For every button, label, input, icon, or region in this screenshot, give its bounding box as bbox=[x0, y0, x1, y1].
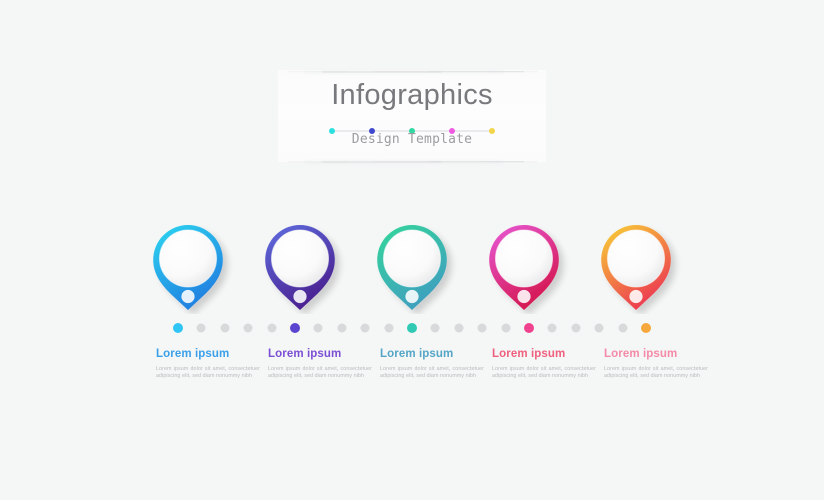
step-heading-2: Lorem ipsum bbox=[268, 348, 372, 361]
map-pin-icon bbox=[371, 222, 467, 314]
progress-dot[interactable] bbox=[220, 324, 229, 333]
progress-dot[interactable] bbox=[431, 324, 440, 333]
progress-dot[interactable] bbox=[501, 324, 510, 333]
progress-dot[interactable] bbox=[267, 324, 276, 333]
infographic-canvas: Infographics Design Template Lorem ipsum… bbox=[0, 0, 824, 500]
pin-marker-5[interactable] bbox=[595, 222, 691, 314]
step-text-block-2: Lorem ipsumLorem ipsum dolor sit amet, c… bbox=[268, 348, 372, 381]
step-text-block-3: Lorem ipsumLorem ipsum dolor sit amet, c… bbox=[380, 348, 484, 381]
progress-dot-accent-1[interactable] bbox=[173, 323, 183, 333]
progress-dot[interactable] bbox=[384, 324, 393, 333]
step-body-5: Lorem ipsum dolor sit amet, consectetuer… bbox=[604, 366, 708, 381]
progress-dot[interactable] bbox=[337, 324, 346, 333]
page-subtitle: Design Template bbox=[278, 132, 546, 148]
progress-dot[interactable] bbox=[478, 324, 487, 333]
step-text-block-5: Lorem ipsumLorem ipsum dolor sit amet, c… bbox=[604, 348, 708, 381]
map-pin-icon bbox=[595, 222, 691, 314]
brush-stroke-bottom-icon bbox=[278, 157, 546, 166]
progress-dot-accent-2[interactable] bbox=[290, 323, 300, 333]
step-heading-1: Lorem ipsum bbox=[156, 348, 260, 361]
progress-dot[interactable] bbox=[595, 324, 604, 333]
step-text-block-1: Lorem ipsumLorem ipsum dolor sit amet, c… bbox=[156, 348, 260, 381]
progress-dot-strip bbox=[178, 322, 646, 334]
progress-dot[interactable] bbox=[361, 324, 370, 333]
progress-dot[interactable] bbox=[454, 324, 463, 333]
progress-dot[interactable] bbox=[618, 324, 627, 333]
page-title: Infographics bbox=[278, 78, 546, 112]
step-body-2: Lorem ipsum dolor sit amet, consectetuer… bbox=[268, 366, 372, 381]
brush-stroke-top-icon bbox=[278, 67, 546, 76]
progress-dot[interactable] bbox=[571, 324, 580, 333]
progress-dot[interactable] bbox=[197, 324, 206, 333]
progress-dot[interactable] bbox=[314, 324, 323, 333]
progress-dot-accent-4[interactable] bbox=[524, 323, 534, 333]
pin-marker-3[interactable] bbox=[371, 222, 467, 314]
pin-marker-4[interactable] bbox=[483, 222, 579, 314]
step-text-block-4: Lorem ipsumLorem ipsum dolor sit amet, c… bbox=[492, 348, 596, 381]
step-body-1: Lorem ipsum dolor sit amet, consectetuer… bbox=[156, 366, 260, 381]
pin-marker-1[interactable] bbox=[147, 222, 243, 314]
progress-dot-accent-3[interactable] bbox=[407, 323, 417, 333]
step-heading-4: Lorem ipsum bbox=[492, 348, 596, 361]
progress-dot[interactable] bbox=[548, 324, 557, 333]
progress-dot-accent-5[interactable] bbox=[641, 323, 651, 333]
map-pin-icon bbox=[483, 222, 579, 314]
map-pin-icon bbox=[259, 222, 355, 314]
step-heading-5: Lorem ipsum bbox=[604, 348, 708, 361]
header-panel: Infographics Design Template bbox=[278, 70, 546, 162]
progress-dot[interactable] bbox=[244, 324, 253, 333]
step-body-3: Lorem ipsum dolor sit amet, consectetuer… bbox=[380, 366, 484, 381]
step-body-4: Lorem ipsum dolor sit amet, consectetuer… bbox=[492, 366, 596, 381]
step-heading-3: Lorem ipsum bbox=[380, 348, 484, 361]
pin-marker-2[interactable] bbox=[259, 222, 355, 314]
map-pin-icon bbox=[147, 222, 243, 314]
